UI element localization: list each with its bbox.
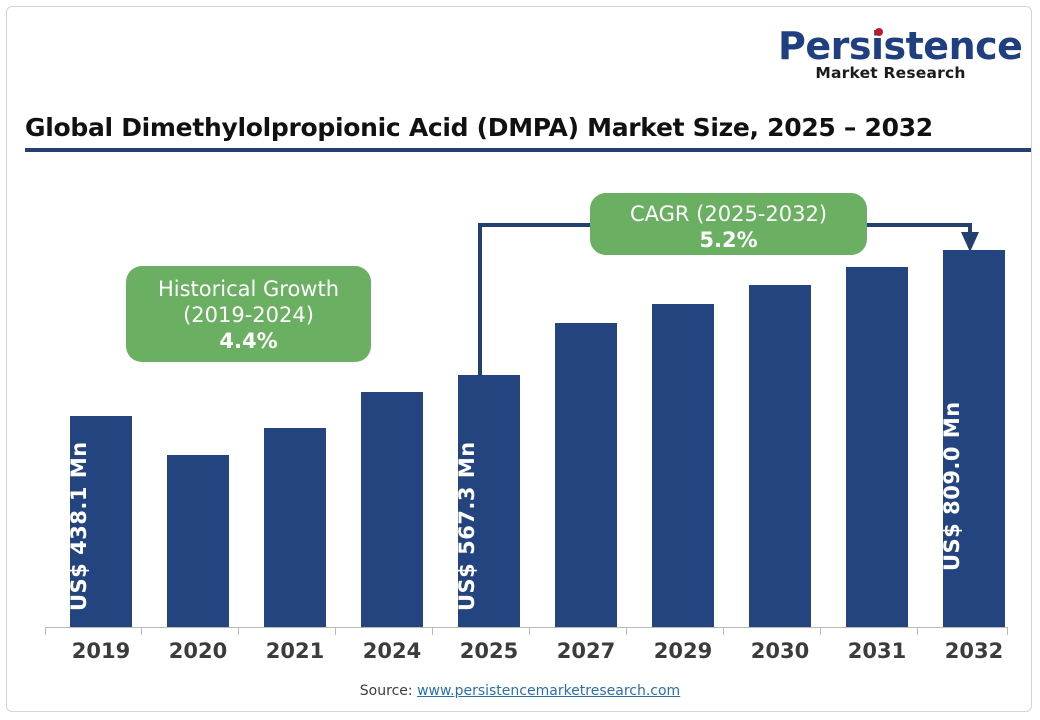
- x-axis-label-2029: 2029: [635, 639, 731, 663]
- bar-value-label-2032: US$ 809.0 Mn: [940, 401, 964, 571]
- x-axis-label-2032: 2032: [926, 639, 1022, 663]
- bar-value-label-2025: US$ 567.3 Mn: [455, 441, 479, 611]
- bar-2021: [264, 428, 326, 627]
- x-axis-tick: [335, 627, 336, 635]
- x-axis-tick: [917, 627, 918, 635]
- bar-2020: [167, 455, 229, 627]
- x-axis-tick: [432, 627, 433, 635]
- bar-value-label-2019: US$ 438.1 Mn: [67, 441, 91, 611]
- bar-2027: [555, 323, 617, 627]
- bar-2029: [652, 304, 714, 627]
- x-axis-tick: [1007, 627, 1008, 635]
- x-axis-label-2021: 2021: [247, 639, 343, 663]
- x-axis-tick: [529, 627, 530, 635]
- x-axis-label-2027: 2027: [538, 639, 634, 663]
- x-axis-tick: [141, 627, 142, 635]
- cagr-callout: CAGR (2025-2032) 5.2%: [590, 193, 867, 255]
- x-axis-label-2031: 2031: [829, 639, 925, 663]
- bar-2030: [749, 285, 811, 627]
- chart-card: Persistence Market Research Global Dimet…: [6, 6, 1032, 712]
- x-axis-line: [45, 627, 1007, 628]
- source-note: Source: www.persistencemarketresearch.co…: [7, 683, 1032, 699]
- bar-chart: US$ 438.1 Mn US$ 567.3 Mn US$ 809.0 Mn 2…: [7, 7, 1032, 712]
- x-axis-tick: [820, 627, 821, 635]
- x-axis-tick: [238, 627, 239, 635]
- x-axis-tick: [723, 627, 724, 635]
- cagr-value: 5.2%: [590, 227, 867, 253]
- x-axis-tick: [45, 627, 46, 635]
- historical-growth-line2: (2019-2024): [126, 302, 371, 328]
- bar-2031: [846, 267, 908, 627]
- historical-growth-value: 4.4%: [126, 328, 371, 354]
- cagr-line1: CAGR (2025-2032): [590, 201, 867, 227]
- source-label: Source:: [360, 683, 417, 699]
- historical-growth-line1: Historical Growth: [126, 276, 371, 302]
- source-link[interactable]: www.persistencemarketresearch.com: [417, 683, 680, 699]
- x-axis-label-2020: 2020: [150, 639, 246, 663]
- historical-growth-callout: Historical Growth (2019-2024) 4.4%: [126, 266, 371, 362]
- x-axis-label-2024: 2024: [344, 639, 440, 663]
- x-axis-label-2019: 2019: [53, 639, 149, 663]
- x-axis-label-2030: 2030: [732, 639, 828, 663]
- bar-2024: [361, 392, 423, 627]
- x-axis-tick: [626, 627, 627, 635]
- x-axis-label-2025: 2025: [441, 639, 537, 663]
